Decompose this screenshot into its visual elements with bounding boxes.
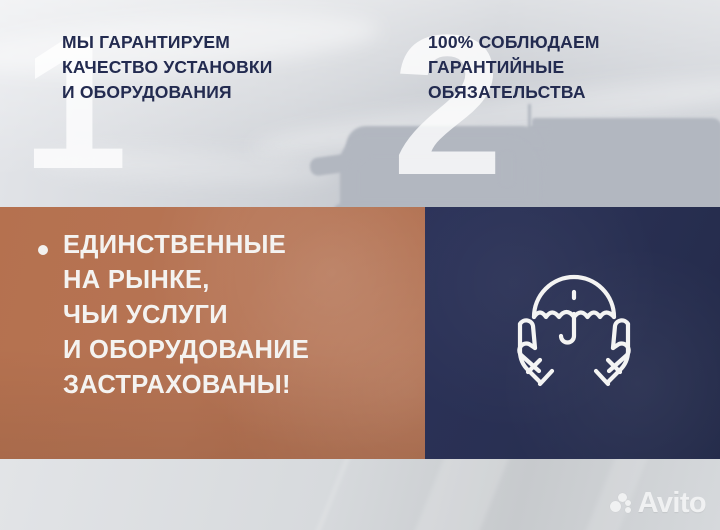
headline-point-2: 100% СОБЛЮДАЕМ ГАРАНТИЙНЫЕ ОБЯЗАТЕЛЬСТВА (428, 30, 688, 105)
avito-dots-icon (610, 492, 634, 516)
highlight-text: ЕДИНСТВЕННЫЕ НА РЫНКЕ, ЧЬИ УСЛУГИ И ОБОР… (63, 228, 413, 403)
avito-wordmark: Avito (638, 489, 706, 518)
truck-silhouette (300, 108, 720, 218)
bullet-dot-icon (38, 245, 48, 255)
headline-point-1: МЫ ГАРАНТИРУЕМ КАЧЕСТВО УСТАНОВКИ И ОБОР… (62, 30, 372, 105)
umbrella-in-hands-icon (506, 262, 642, 398)
avito-watermark: Avito (610, 489, 706, 518)
promo-poster: 1 2 МЫ ГАРАНТИРУЕМ КАЧЕСТВО УСТАНОВКИ И … (0, 0, 720, 530)
